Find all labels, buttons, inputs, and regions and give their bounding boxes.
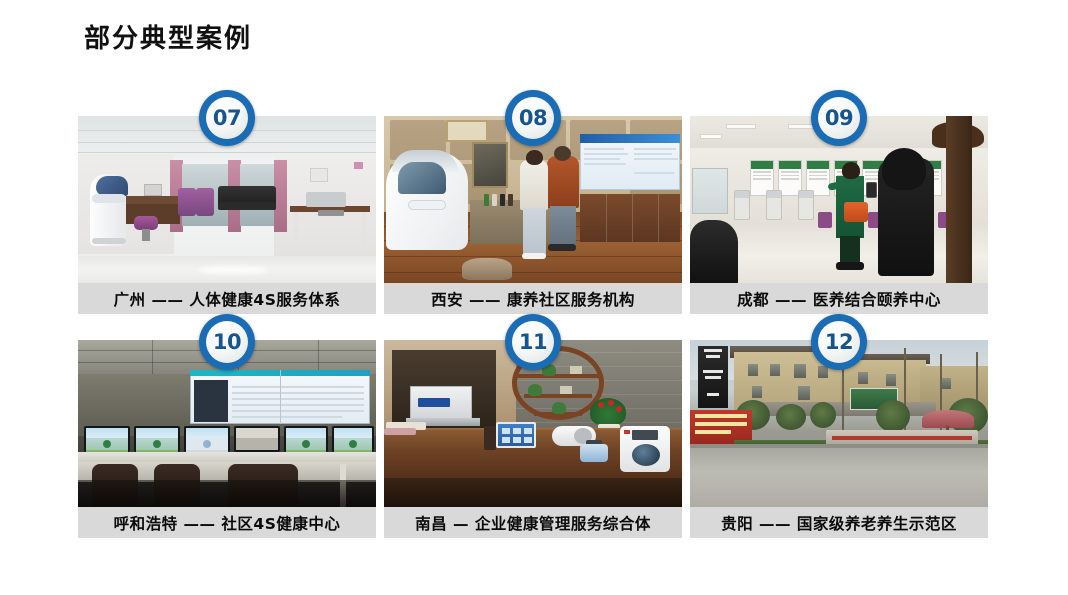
case-badge-number: 10 (213, 332, 241, 353)
case-caption-10: 呼和浩特 —— 社区4S健康中心 (78, 507, 376, 538)
case-badge-11: 11 (505, 314, 561, 370)
case-row-bottom: 呼和浩特 —— 社区4S健康中心 10 (78, 340, 990, 538)
case-caption-11: 南昌 — 企业健康管理服务综合体 (384, 507, 682, 538)
page-title: 部分典型案例 (84, 18, 252, 55)
slide-root: 部分典型案例 (0, 0, 1068, 595)
case-badge-12: 12 (811, 314, 867, 370)
case-caption-07: 广州 —— 人体健康4S服务体系 (78, 283, 376, 314)
case-card-10[interactable]: 呼和浩特 —— 社区4S健康中心 10 (78, 340, 376, 538)
case-card-09[interactable]: 成都 —— 医养结合颐养中心 09 (690, 116, 988, 314)
case-caption-09: 成都 —— 医养结合颐养中心 (690, 283, 988, 314)
case-badge-number: 12 (825, 332, 853, 353)
case-grid: 广州 —— 人体健康4S服务体系 07 (78, 116, 990, 538)
case-badge-number: 07 (213, 108, 241, 129)
case-badge-07: 07 (199, 90, 255, 146)
case-row-top: 广州 —— 人体健康4S服务体系 07 (78, 116, 990, 314)
case-badge-09: 09 (811, 90, 867, 146)
case-badge-number: 09 (825, 108, 853, 129)
case-card-11[interactable]: 南昌 — 企业健康管理服务综合体 11 (384, 340, 682, 538)
case-badge-08: 08 (505, 90, 561, 146)
case-badge-number: 08 (519, 108, 547, 129)
case-badge-10: 10 (199, 314, 255, 370)
case-caption-12: 贵阳 —— 国家级养老养生示范区 (690, 507, 988, 538)
case-card-08[interactable]: 西安 —— 康养社区服务机构 08 (384, 116, 682, 314)
case-card-12[interactable]: 贵阳 —— 国家级养老养生示范区 12 (690, 340, 988, 538)
case-badge-number: 11 (519, 332, 547, 353)
case-caption-08: 西安 —— 康养社区服务机构 (384, 283, 682, 314)
case-card-07[interactable]: 广州 —— 人体健康4S服务体系 07 (78, 116, 376, 314)
